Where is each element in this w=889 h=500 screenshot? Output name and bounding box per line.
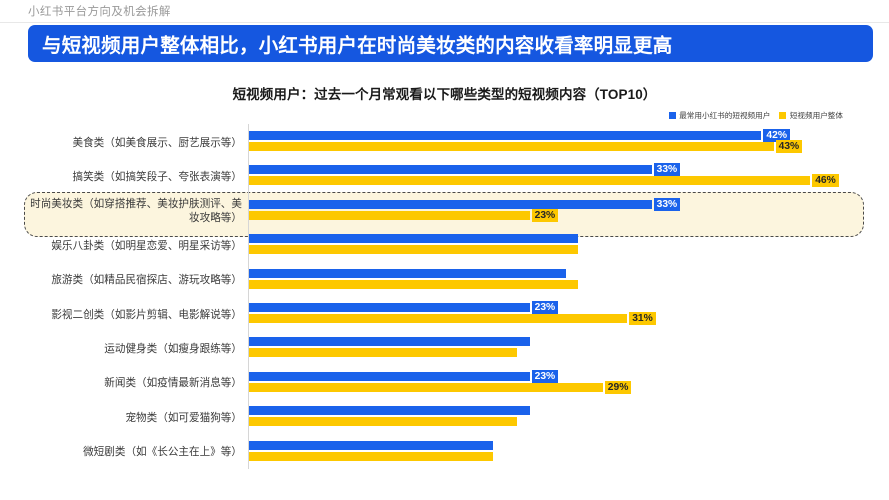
chart-row: 美食类（如美食展示、厨艺展示等）42%43% [0, 126, 889, 159]
category-label: 运动健身类（如瘦身跟练等） [20, 342, 242, 356]
bar-primary [249, 406, 530, 415]
category-label: 微短剧类（如《长公主在上》等） [20, 445, 242, 459]
bar-primary [249, 269, 566, 278]
category-label: 娱乐八卦类（如明星恋爱、明星采访等） [20, 239, 242, 253]
bar-secondary [249, 245, 578, 254]
bar-secondary [249, 176, 810, 185]
legend-swatch-primary [669, 112, 676, 119]
bar-secondary [249, 142, 774, 151]
eyebrow-label: 小红书平台方向及机会拆解 [28, 3, 171, 19]
bar-value-primary: 33% [654, 198, 681, 211]
chart-legend: 最常用小红书的短视频用户 短视频用户整体 [669, 110, 843, 121]
chart-row: 娱乐八卦类（如明星恋爱、明星采访等） [0, 229, 889, 262]
bar-group: 33%46% [249, 164, 885, 190]
category-label: 影视二创类（如影片剪辑、电影解说等） [20, 308, 242, 322]
legend-swatch-secondary [779, 112, 786, 119]
bar-secondary [249, 452, 493, 461]
bar-group [249, 336, 885, 362]
legend-item-secondary: 短视频用户整体 [779, 110, 843, 121]
headline-banner: 与短视频用户整体相比，小红书用户在时尚美妆类的内容收看率明显更高 [28, 25, 873, 62]
bar-group: 42%43% [249, 130, 885, 156]
bar-primary [249, 165, 652, 174]
headline-title: 与短视频用户整体相比，小红书用户在时尚美妆类的内容收看率明显更高 [42, 29, 672, 58]
bar-value-secondary: 23% [532, 209, 559, 222]
chart-row: 新闻类（如疫情最新消息等）23%29% [0, 367, 889, 400]
bar-group: 23%31% [249, 302, 885, 328]
bar-group [249, 233, 885, 259]
category-label: 搞笑类（如搞笑段子、夸张表演等） [20, 170, 242, 184]
chart-title: 短视频用户：过去一个月常观看以下哪些类型的短视频内容（TOP10） [0, 83, 889, 103]
category-label: 宠物类（如可爱猫狗等） [20, 411, 242, 425]
bar-primary [249, 234, 578, 243]
bar-secondary [249, 348, 517, 357]
bar-primary [249, 441, 493, 450]
legend-label-primary: 最常用小红书的短视频用户 [679, 110, 770, 121]
chart-row: 微短剧类（如《长公主在上》等） [0, 436, 889, 469]
bar-primary [249, 131, 761, 140]
bar-group: 23%29% [249, 371, 885, 397]
category-label: 新闻类（如疫情最新消息等） [20, 376, 242, 390]
eyebrow-bar: 小红书平台方向及机会拆解 [0, 0, 889, 23]
bar-group [249, 405, 885, 431]
chart-row: 时尚美妆类（如穿搭推荐、美妆护肤测评、美妆攻略等）33%23% [0, 195, 889, 228]
legend-item-primary: 最常用小红书的短视频用户 [669, 110, 771, 121]
chart-plot-area: 美食类（如美食展示、厨艺展示等）42%43%搞笑类（如搞笑段子、夸张表演等）33… [0, 124, 889, 476]
chart-row: 旅游类（如精品民宿探店、游玩攻略等） [0, 264, 889, 297]
chart-row: 运动健身类（如瘦身跟练等） [0, 332, 889, 365]
bar-value-secondary: 29% [605, 381, 632, 394]
bar-group [249, 440, 885, 466]
category-label: 旅游类（如精品民宿探店、游玩攻略等） [20, 273, 242, 287]
bar-secondary [249, 280, 578, 289]
bar-secondary [249, 211, 530, 220]
bar-value-primary: 23% [532, 301, 559, 314]
bar-value-secondary: 31% [629, 312, 656, 325]
bar-value-primary: 33% [654, 163, 681, 176]
bar-secondary [249, 383, 603, 392]
bar-value-secondary: 43% [776, 140, 803, 153]
bar-primary [249, 372, 530, 381]
bar-primary [249, 303, 530, 312]
bar-value-primary: 23% [532, 370, 559, 383]
category-label: 美食类（如美食展示、厨艺展示等） [20, 136, 242, 150]
legend-label-secondary: 短视频用户整体 [790, 110, 843, 121]
bar-primary [249, 337, 530, 346]
chart-row: 影视二创类（如影片剪辑、电影解说等）23%31% [0, 298, 889, 331]
bar-secondary [249, 417, 517, 426]
chart-row: 搞笑类（如搞笑段子、夸张表演等）33%46% [0, 160, 889, 193]
bar-group: 33%23% [249, 199, 885, 225]
bar-primary [249, 200, 652, 209]
chart-row: 宠物类（如可爱猫狗等） [0, 401, 889, 434]
bar-secondary [249, 314, 627, 323]
category-label: 时尚美妆类（如穿搭推荐、美妆护肤测评、美妆攻略等） [20, 197, 242, 225]
bar-group [249, 268, 885, 294]
bar-value-secondary: 46% [812, 174, 839, 187]
